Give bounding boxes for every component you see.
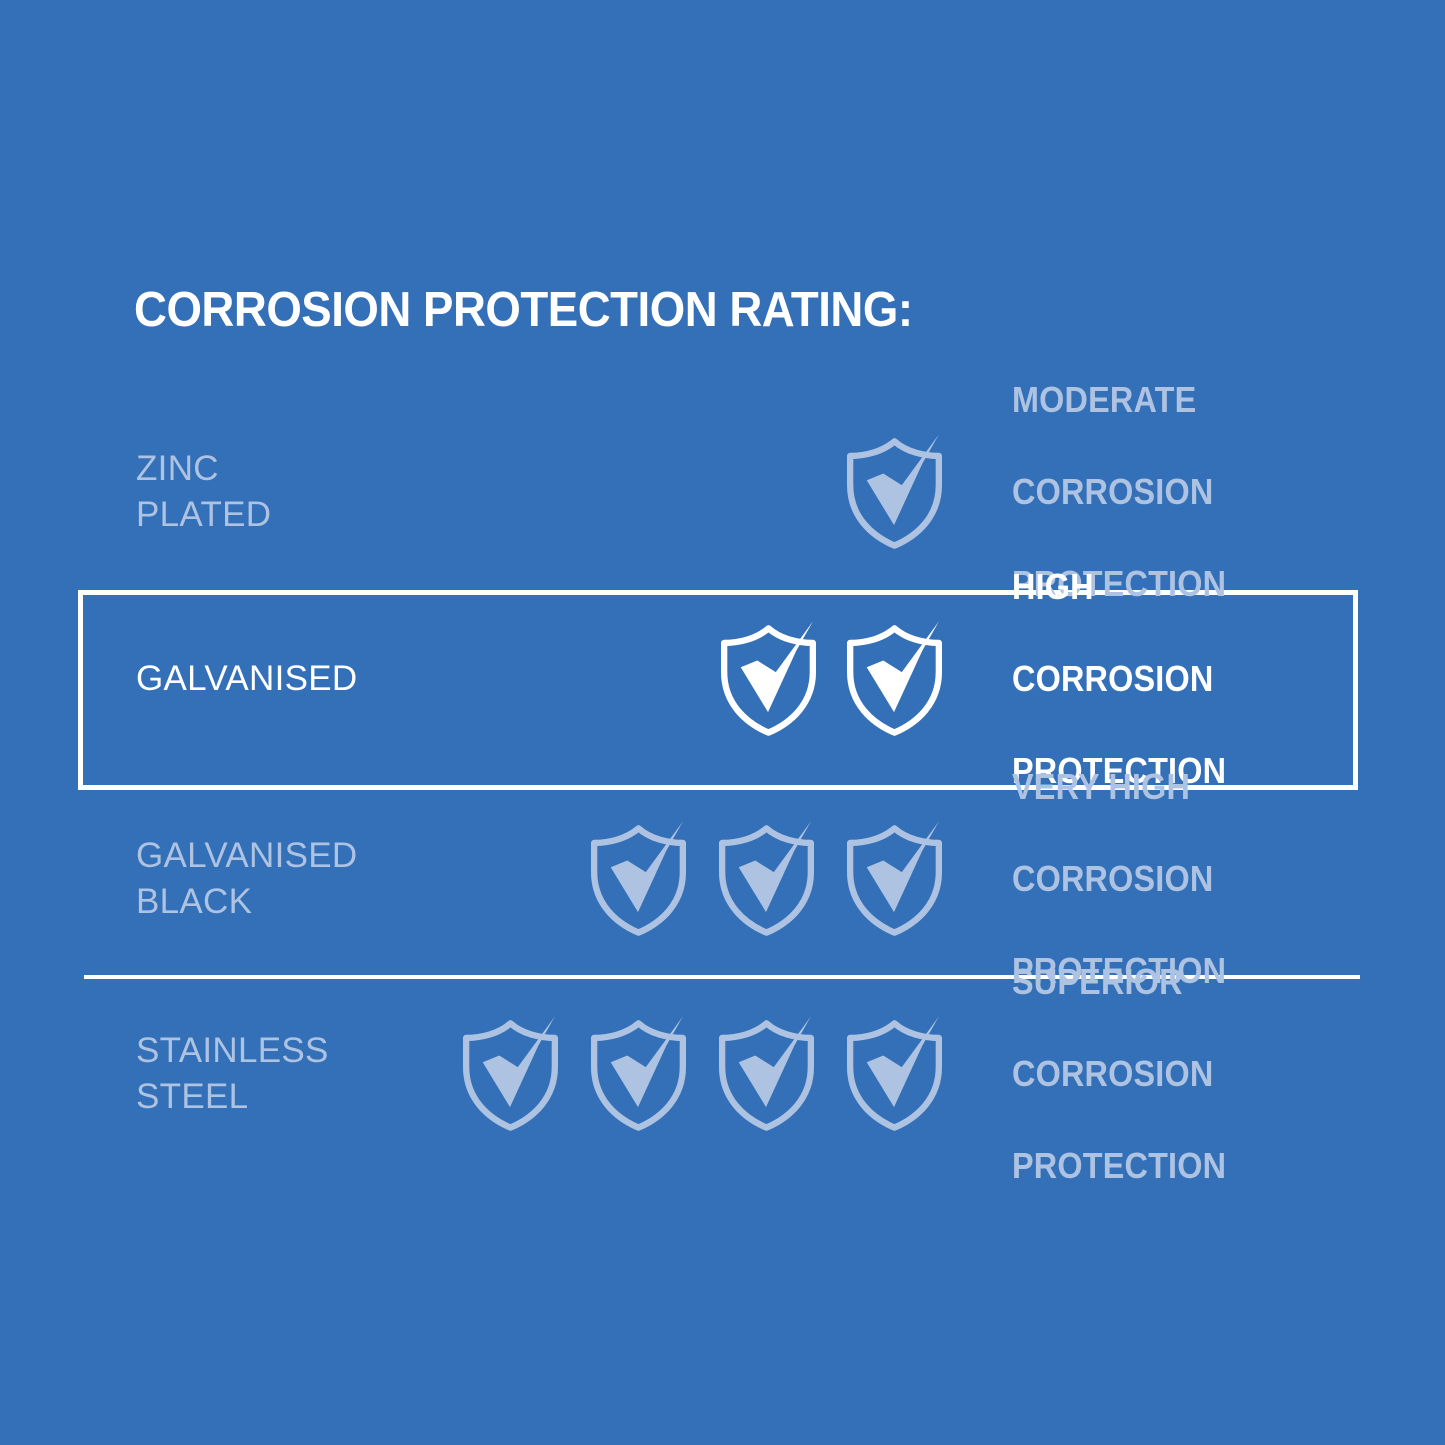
rating-line-2: CORROSION (1012, 656, 1226, 702)
shield-group-galvanised-black (588, 822, 945, 937)
page-title: CORROSION PROTECTION RATING: (134, 282, 913, 338)
material-label-galvanised: GALVANISED (136, 656, 358, 702)
rating-row-stainless-steel: STAINLESS STEEL SUPERIOR CORROSION PROTE… (0, 990, 1445, 1158)
rating-line-3: PROTECTION (1012, 1143, 1226, 1189)
shield-check-icon (588, 1017, 689, 1132)
rating-line-2: CORROSION (1012, 469, 1226, 515)
rating-line-2: CORROSION (1012, 1051, 1226, 1097)
shield-check-icon (844, 1017, 945, 1132)
rating-label-stainless-steel: SUPERIOR CORROSION PROTECTION (1012, 913, 1250, 1235)
shield-check-icon (844, 435, 945, 550)
rating-line-2: CORROSION (1012, 856, 1226, 902)
shield-check-icon (716, 1017, 817, 1132)
shield-check-icon (460, 1017, 561, 1132)
rating-line-1: VERY HIGH (1012, 764, 1226, 810)
shield-check-icon (588, 822, 689, 937)
material-label-stainless-steel: STAINLESS STEEL (136, 1028, 329, 1120)
material-label-zinc-plated: ZINC PLATED (136, 446, 271, 538)
shield-group-zinc-plated (844, 435, 945, 550)
infographic-canvas: CORROSION PROTECTION RATING: ZINC PLATED… (0, 0, 1445, 1445)
shield-group-stainless-steel (460, 1017, 945, 1132)
shield-check-icon (844, 622, 945, 737)
shield-check-icon (718, 622, 819, 737)
shield-check-icon (716, 822, 817, 937)
rating-line-1: HIGH (1012, 564, 1226, 610)
material-label-galvanised-black: GALVANISED BLACK (136, 833, 358, 925)
shield-check-icon (844, 822, 945, 937)
shield-group-galvanised (718, 622, 945, 737)
rating-line-1: SUPERIOR (1012, 959, 1226, 1005)
rating-line-1: MODERATE (1012, 377, 1226, 423)
